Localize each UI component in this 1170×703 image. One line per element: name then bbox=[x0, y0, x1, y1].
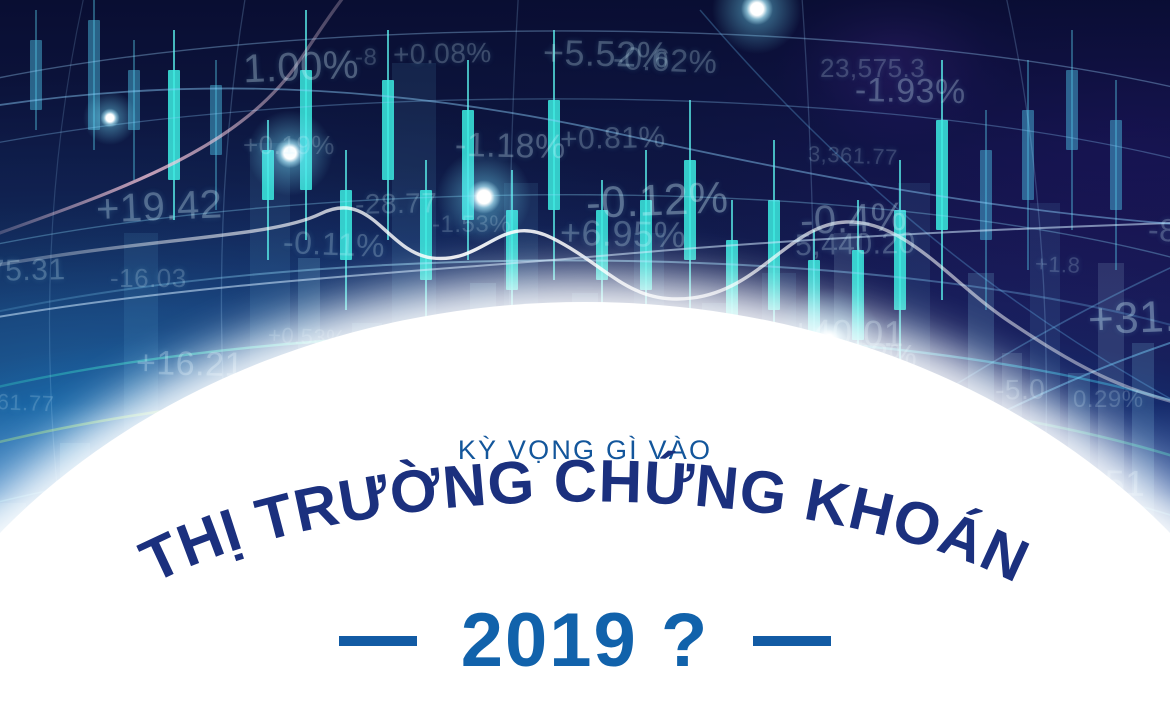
year-text: 2019 ? bbox=[461, 607, 710, 675]
poster-canvas: +19.4275.31-16.03+16.21361.77-34.07+0.08… bbox=[0, 0, 1170, 703]
left-dash-decoration bbox=[339, 636, 417, 646]
ticker-value: 5,440.20 bbox=[795, 227, 916, 264]
headline-arc: THỊ TRƯỜNG CHỨNG KHOÁN bbox=[135, 468, 1035, 588]
year-row: 2019 ? bbox=[0, 607, 1170, 675]
ticker-value: +0.81% bbox=[560, 121, 666, 157]
ticker-value: -28.77 bbox=[355, 187, 438, 221]
ticker-value: 1.00% bbox=[242, 43, 360, 93]
ticker-value: 0.29% bbox=[1073, 386, 1144, 414]
ticker-value: -0.62% bbox=[612, 40, 718, 81]
right-dash-decoration bbox=[753, 636, 831, 646]
ticker-value: +6.95% bbox=[560, 212, 687, 257]
ticker-value: +0.19% bbox=[243, 130, 335, 161]
ticker-value: -8 bbox=[1147, 211, 1170, 249]
ticker-value: -1.18% bbox=[455, 126, 567, 167]
ticker-value: -16.03 bbox=[110, 263, 187, 294]
ticker-value: +1.8 bbox=[1034, 251, 1080, 279]
ticker-value: -5.0 bbox=[995, 373, 1046, 406]
ticker-value: 75.31 bbox=[0, 253, 66, 289]
ticker-value: -0.11% bbox=[282, 224, 385, 265]
title-block: KỲ VỌNG GÌ VÀO THỊ TRƯỜNG CHỨNG KHOÁN 20… bbox=[0, 423, 1170, 703]
ticker-value: 361.77 bbox=[0, 389, 55, 418]
ticker-value: +0.08% bbox=[393, 37, 492, 71]
ticker-value: +31.7 bbox=[1087, 291, 1170, 346]
ticker-value: +19.42 bbox=[95, 182, 223, 232]
headline-text: THỊ TRƯỜNG CHỨNG KHOÁN bbox=[130, 447, 1039, 595]
ticker-value: -1.53% bbox=[432, 211, 511, 239]
ticker-value: -1.93% bbox=[855, 71, 967, 112]
ticker-value: 3,361.77 bbox=[807, 141, 898, 171]
bokeh-dot bbox=[98, 106, 122, 130]
